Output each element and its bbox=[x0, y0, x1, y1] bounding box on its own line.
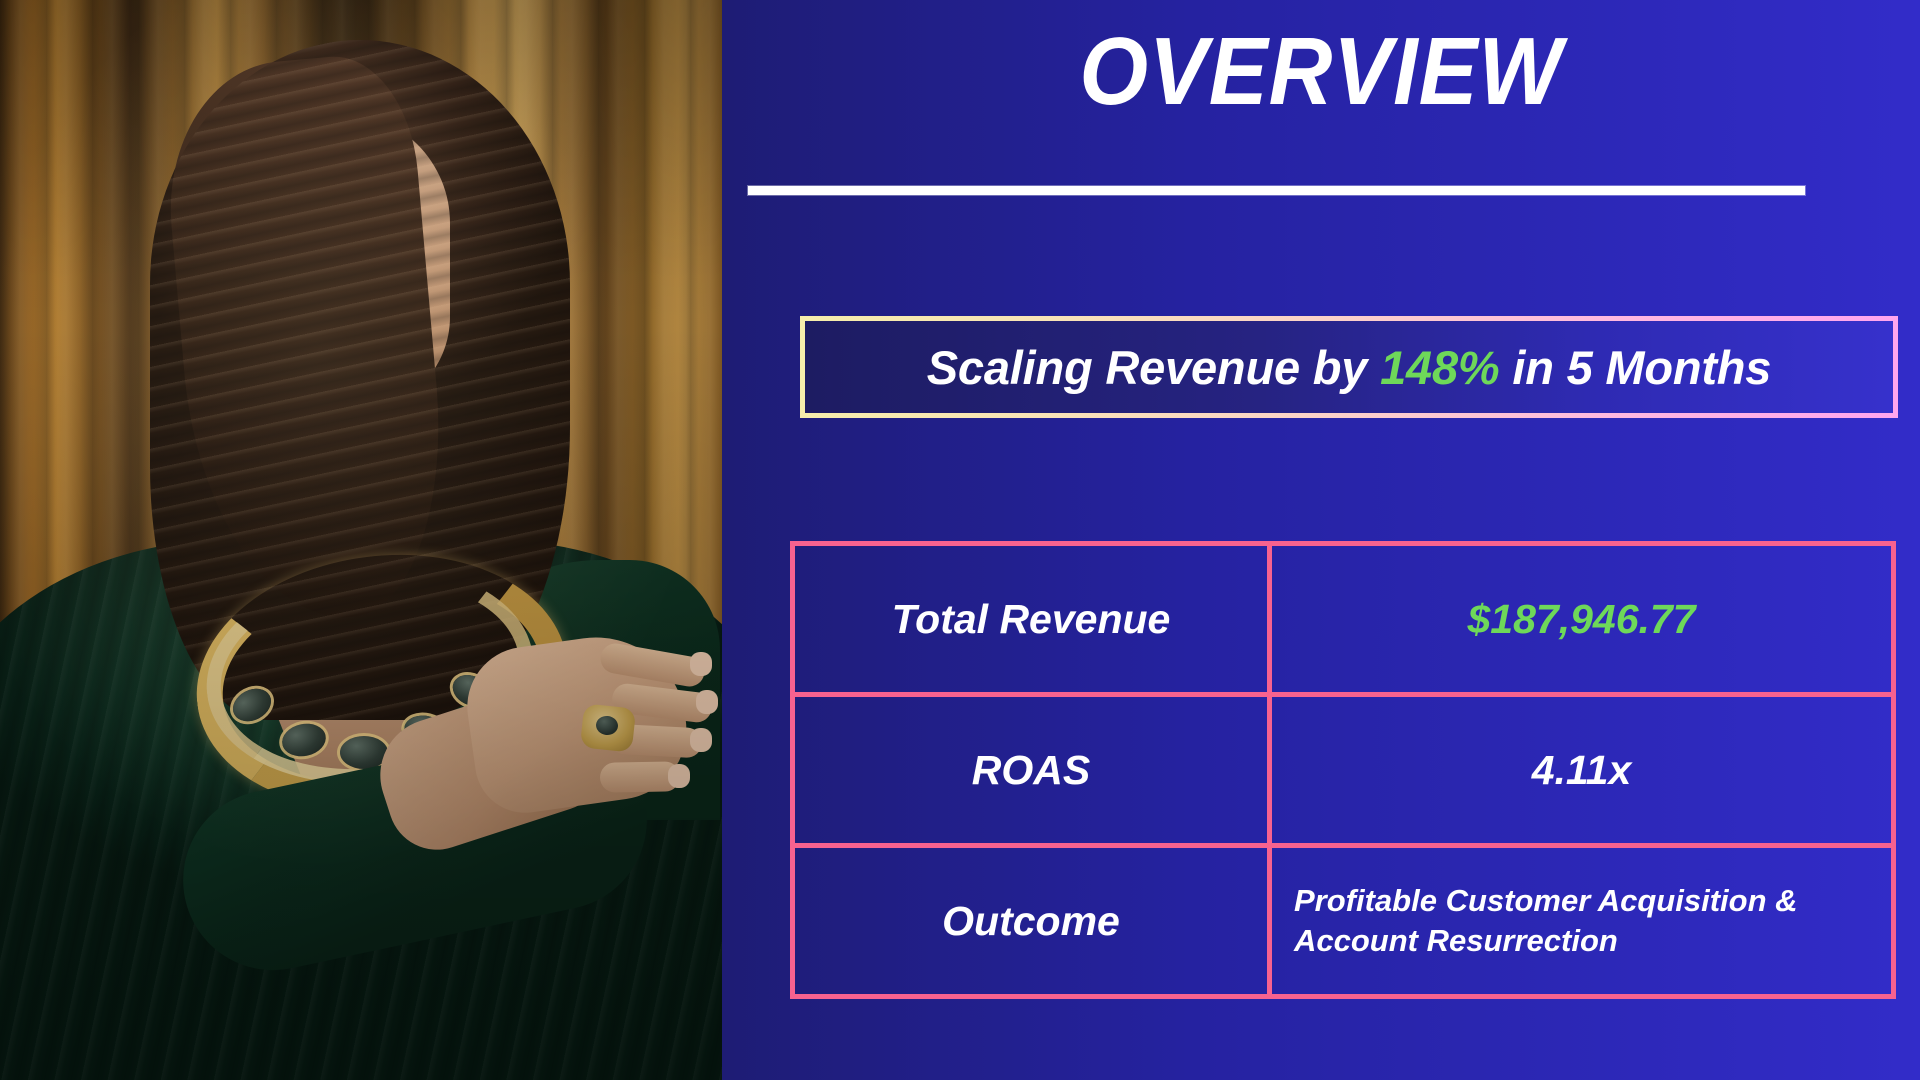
fingernail bbox=[668, 764, 690, 788]
content-panel: OVERVIEW Scaling Revenue by 148% in 5 Mo… bbox=[722, 0, 1920, 1080]
table-row: ROAS 4.11x bbox=[793, 695, 1894, 846]
headline-accent-value: 148% bbox=[1380, 341, 1499, 394]
table-row: Outcome Profitable Customer Acquisition … bbox=[793, 846, 1894, 997]
metric-value: $187,946.77 bbox=[1290, 596, 1873, 643]
metric-value: 4.11x bbox=[1290, 747, 1873, 794]
fingernail bbox=[696, 690, 718, 714]
title-divider bbox=[748, 186, 1805, 195]
metric-label-cell: Outcome bbox=[793, 846, 1270, 997]
headline-prefix: Scaling Revenue by bbox=[927, 341, 1380, 394]
metric-label-cell: ROAS bbox=[793, 695, 1270, 846]
overview-slide: OVERVIEW Scaling Revenue by 148% in 5 Mo… bbox=[0, 0, 1920, 1080]
model-photo bbox=[0, 0, 722, 1080]
metric-label: ROAS bbox=[813, 747, 1249, 794]
headline-suffix: in 5 Months bbox=[1499, 341, 1771, 394]
model-figure bbox=[0, 0, 722, 1080]
page-title: OVERVIEW bbox=[794, 22, 1848, 123]
metric-value-cell: 4.11x bbox=[1270, 695, 1894, 846]
headline-banner-inner: Scaling Revenue by 148% in 5 Months bbox=[805, 321, 1893, 413]
headline-text: Scaling Revenue by 148% in 5 Months bbox=[927, 340, 1772, 395]
metric-value: Profitable Customer Acquisition & Accoun… bbox=[1290, 881, 1873, 960]
metric-label-cell: Total Revenue bbox=[793, 544, 1270, 695]
fingernail bbox=[690, 728, 712, 752]
metric-label: Total Revenue bbox=[813, 596, 1249, 643]
metric-value-cell: $187,946.77 bbox=[1270, 544, 1894, 695]
metric-value-cell: Profitable Customer Acquisition & Accoun… bbox=[1270, 846, 1894, 997]
metric-label: Outcome bbox=[813, 898, 1249, 945]
headline-banner: Scaling Revenue by 148% in 5 Months bbox=[800, 316, 1898, 418]
metrics-table: Total Revenue $187,946.77 ROAS 4.11x bbox=[790, 541, 1896, 999]
fingernail bbox=[690, 652, 712, 676]
table-row: Total Revenue $187,946.77 bbox=[793, 544, 1894, 695]
